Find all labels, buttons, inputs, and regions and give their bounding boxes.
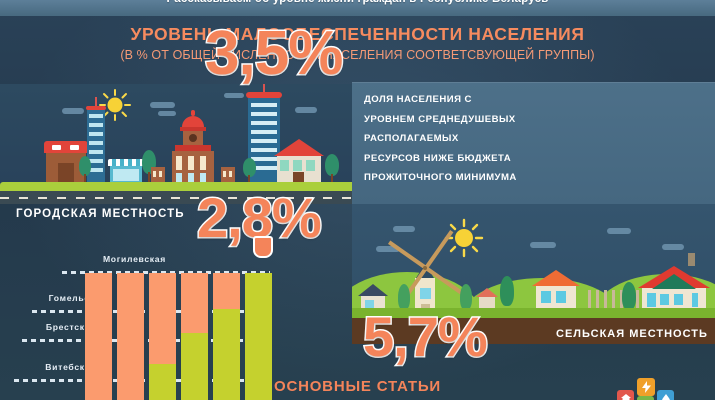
cloud-icon	[530, 242, 556, 248]
building-villa	[274, 139, 324, 183]
cloud-icon	[295, 107, 317, 113]
home-tile-icon	[617, 390, 634, 400]
page-subtitle: (В % ОТ ОБЩЕЙ ЧИСЛЕННОСТИ НАСЕЛЕНИЯ СООТ…	[0, 48, 715, 62]
infographic-root: Рассказываем об уровне жизни граждан в Р…	[0, 0, 715, 400]
gridline-label-vitebskaya: Витебская	[0, 362, 96, 372]
gridline-label-brestskaya: Брестская	[0, 322, 96, 332]
building-civic	[162, 114, 224, 183]
urban-label: ГОРОДСКАЯ МЕСТНОСТЬ	[16, 208, 185, 220]
bottom-section-heading: ОСНОВНЫЕ СТАТЬИ	[0, 378, 715, 395]
cloud-icon	[150, 102, 175, 108]
shield-icon	[253, 236, 273, 258]
tree-icon	[243, 158, 256, 184]
info-line-2: УРОВНЕМ СРЕДНЕДУШЕВЫХ	[364, 110, 574, 130]
cloud-icon	[662, 244, 684, 250]
info-panel-text: ДОЛЯ НАСЕЛЕНИЯ С УРОВНЕМ СРЕДНЕДУШЕВЫХ Р…	[364, 90, 574, 188]
intro-strip: Рассказываем об уровне жизни граждан в Р…	[0, 0, 715, 16]
info-line-4: РЕСУРСОВ НИЖЕ БЮДЖЕТА	[364, 149, 574, 169]
gridline-label-mogilevskaya: Могилевская	[0, 254, 166, 264]
region-bar-chart: Могилевская Гомельская Брестская Витебск…	[0, 240, 300, 400]
cloud-icon	[607, 228, 631, 234]
lightning-tile-icon	[637, 378, 655, 396]
intro-text: Рассказываем об уровне жизни граждан в Р…	[0, 0, 715, 5]
info-panel: ДОЛЯ НАСЕЛЕНИЯ С УРОВНЕМ СРЕДНЕДУШЕВЫХ Р…	[352, 82, 715, 204]
leaf-tile-icon	[637, 396, 654, 400]
building-shop	[108, 159, 144, 184]
water-drop-tile-icon	[657, 390, 674, 400]
page-title: УРОВЕНЬ МАЛООБЕСПЕЧЕННОСТИ НАСЕЛЕНИЯ	[0, 24, 715, 45]
rural-label: СЕЛЬСКАЯ МЕСТНОСТЬ	[556, 328, 708, 340]
info-line-3: РАСПОЛАГАЕМЫХ	[364, 129, 574, 149]
cloud-icon	[224, 93, 244, 98]
info-line-1: ДОЛЯ НАСЕЛЕНИЯ С	[364, 90, 574, 110]
tree-icon	[79, 156, 91, 184]
info-line-5: ПРОЖИТОЧНОГО МИНИМУМА	[364, 168, 574, 188]
tree-icon	[325, 154, 339, 184]
rural-value: 5,7%	[363, 304, 487, 369]
cloud-icon	[62, 108, 84, 114]
info-panel-value: 3,5%	[205, 18, 342, 89]
